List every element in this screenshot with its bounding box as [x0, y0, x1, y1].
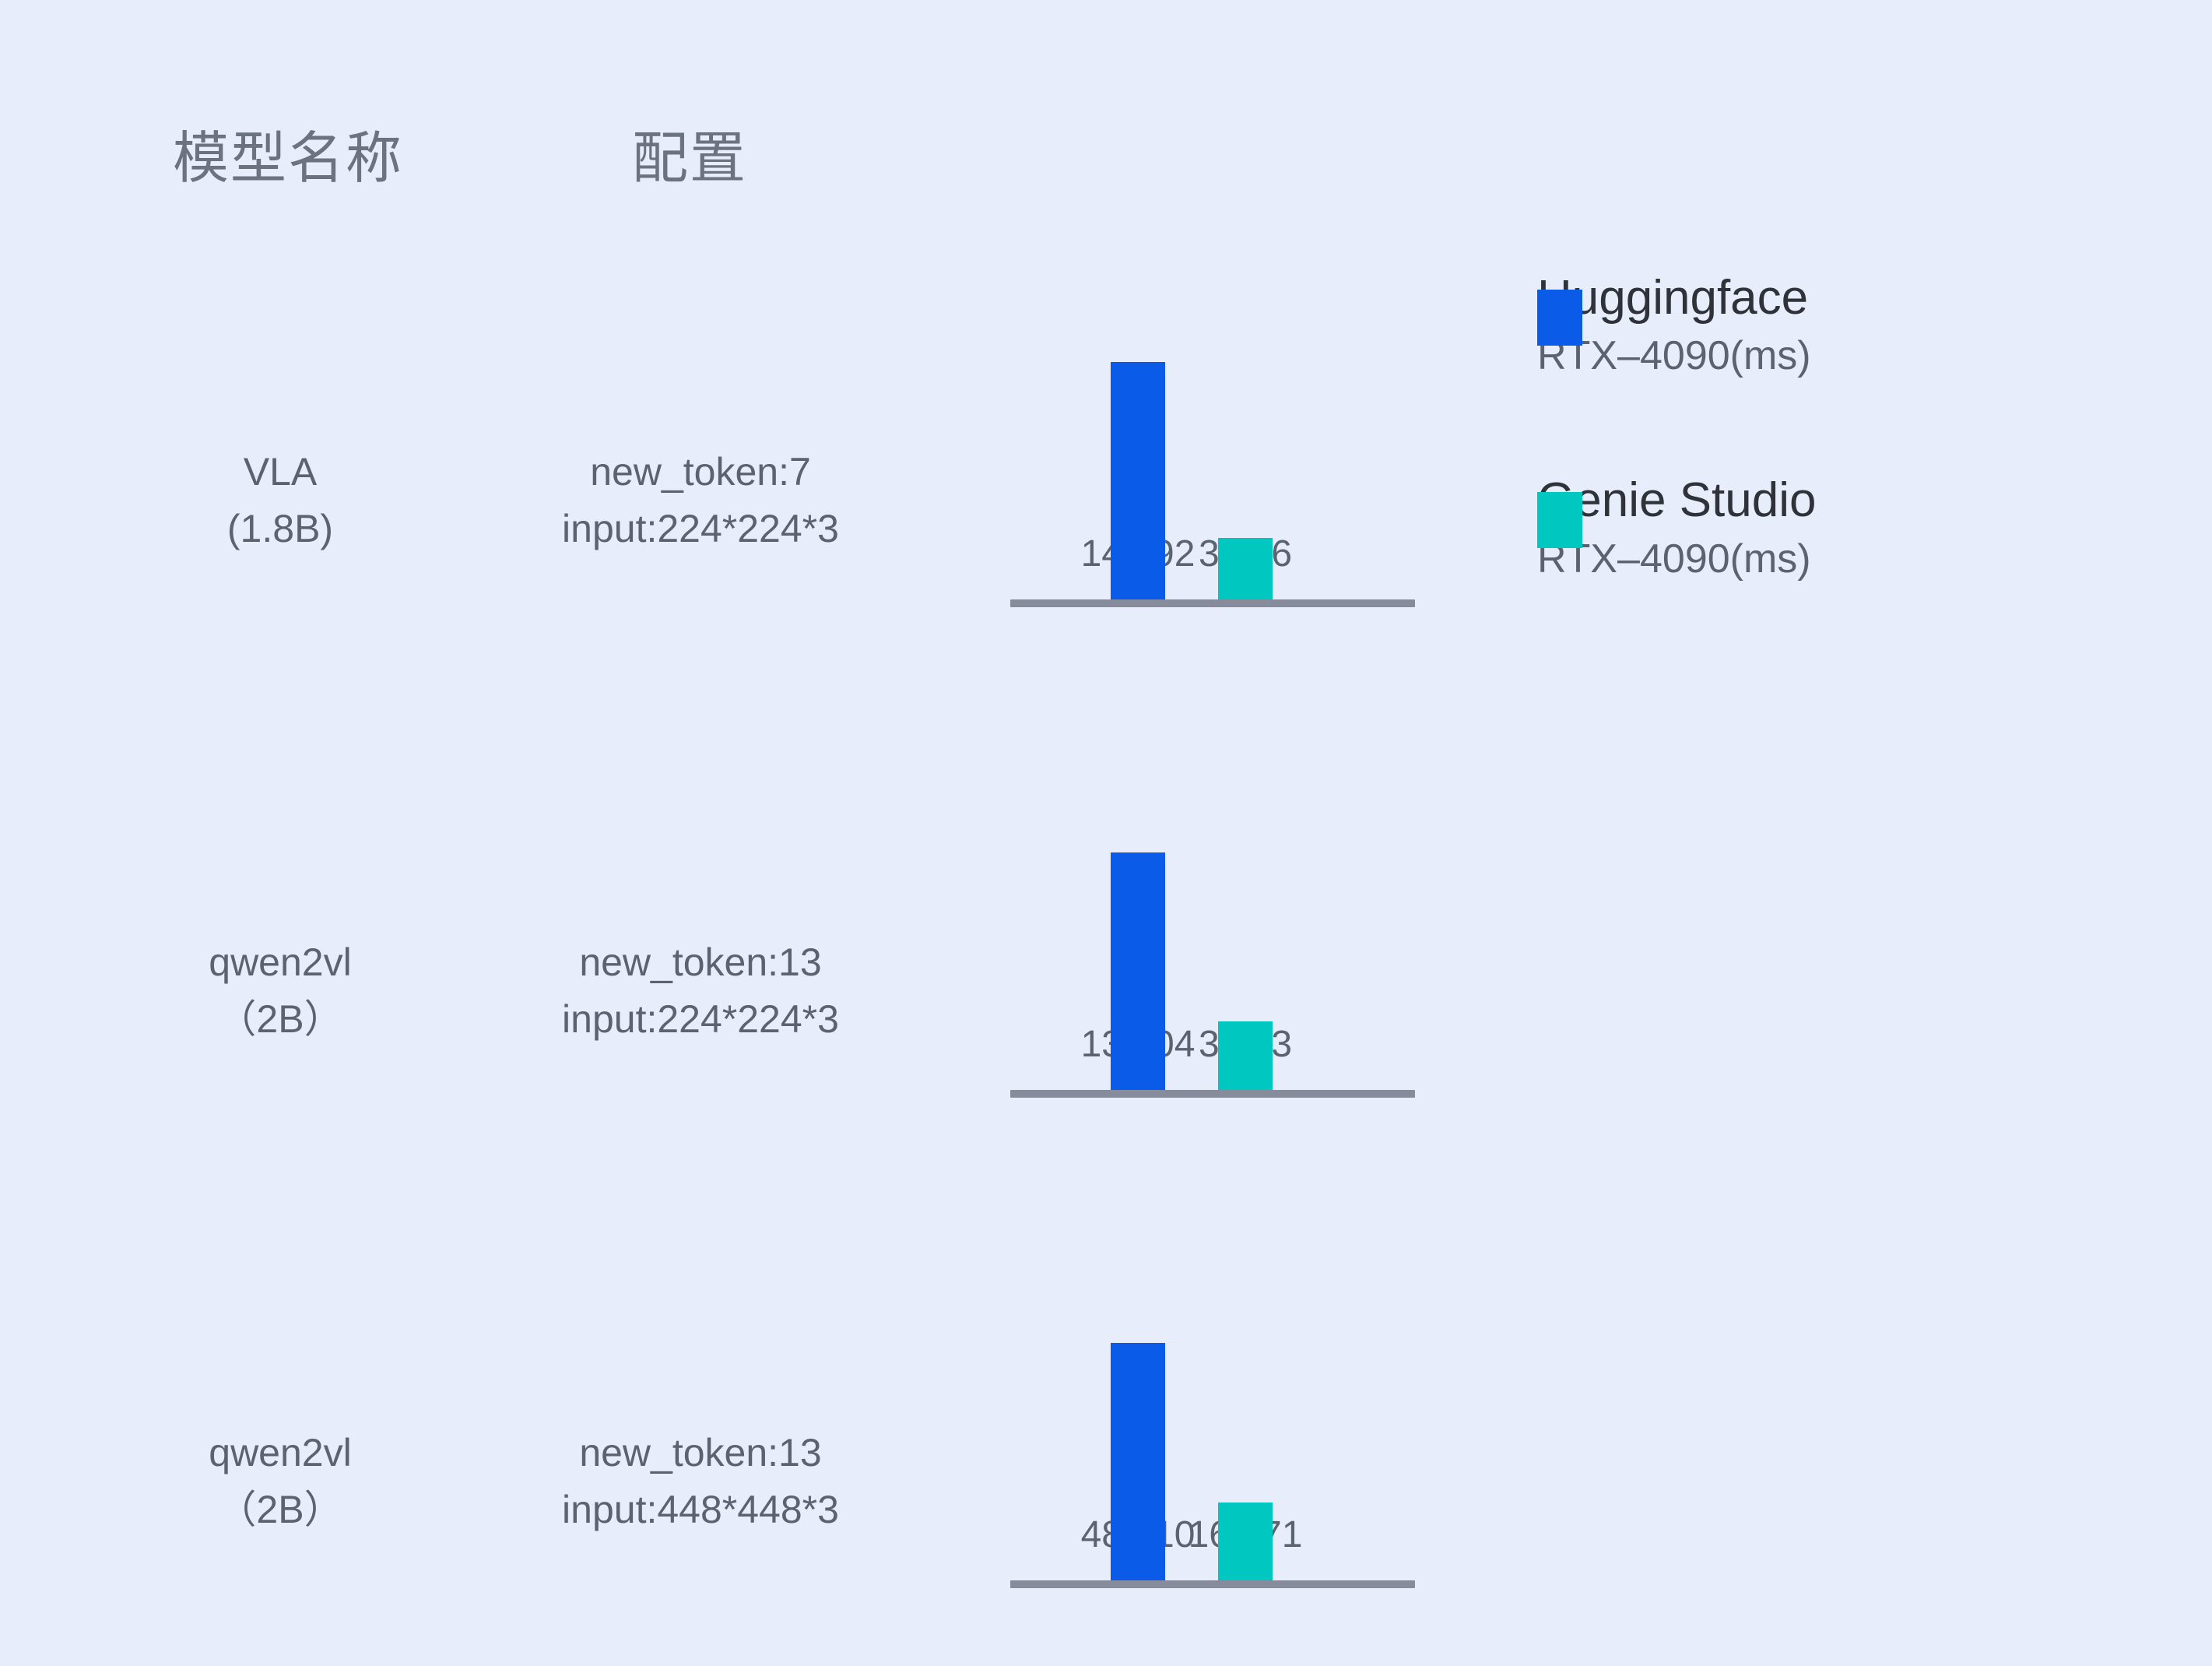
- legend-text-group: Huggingface RTX–4090(ms): [1537, 271, 2129, 381]
- legend-subtitle: RTX–4090(ms): [1537, 534, 2129, 585]
- axis-baseline: [1010, 599, 1415, 607]
- model-name-line-1: qwen2vl: [101, 1425, 459, 1481]
- model-name-cell: qwen2vl （2B）: [101, 1425, 459, 1538]
- bar-huggingface[interactable]: [1111, 1343, 1165, 1580]
- bar-plot: 141.92 36.56: [1010, 296, 1415, 607]
- chart-legend: Huggingface RTX–4090(ms) Genie Studio RT…: [1537, 257, 2129, 663]
- model-name-line-2: （2B）: [101, 991, 459, 1048]
- axis-baseline: [1010, 1580, 1415, 1588]
- config-line-2: input:224*224*3: [459, 501, 942, 557]
- config-line-1: new_token:13: [459, 934, 942, 991]
- legend-title: Huggingface: [1537, 271, 2129, 325]
- legend-title: Genie Studio: [1537, 473, 2129, 527]
- model-name-line-1: VLA: [101, 444, 459, 501]
- model-name-line-1: qwen2vl: [101, 934, 459, 991]
- square-swatch-icon: [1537, 290, 1582, 346]
- column-header-model-name: 模型名称: [173, 131, 403, 187]
- config-line-1: new_token:13: [459, 1425, 942, 1481]
- model-name-line-2: (1.8B): [101, 501, 459, 557]
- table-row: qwen2vl （2B） new_token:13 input:448*448*…: [0, 1277, 2212, 1666]
- bar-plot: 488.10 160.71: [1010, 1277, 1415, 1588]
- chart-canvas: 模型名称 配置 VLA (1.8B) new_token:7 input:224…: [0, 0, 2212, 1638]
- bar-plot: 131.04 37.93: [1010, 786, 1415, 1098]
- bar-genie-studio[interactable]: [1218, 1503, 1273, 1580]
- config-line-1: new_token:7: [459, 444, 942, 501]
- config-line-2: input:448*448*3: [459, 1481, 942, 1538]
- table-row: qwen2vl （2B） new_token:13 input:224*224*…: [0, 786, 2212, 1176]
- model-name-cell: VLA (1.8B): [101, 444, 459, 557]
- square-swatch-icon: [1537, 492, 1582, 548]
- axis-baseline: [1010, 1090, 1415, 1098]
- config-cell: new_token:7 input:224*224*3: [459, 444, 942, 557]
- column-header-config: 配置: [632, 131, 747, 187]
- config-cell: new_token:13 input:224*224*3: [459, 934, 942, 1047]
- bar-genie-studio[interactable]: [1218, 1021, 1273, 1090]
- model-name-line-2: （2B）: [101, 1481, 459, 1538]
- bar-genie-studio[interactable]: [1218, 538, 1273, 599]
- legend-subtitle: RTX–4090(ms): [1537, 331, 2129, 381]
- legend-item-huggingface[interactable]: Huggingface RTX–4090(ms): [1537, 257, 2129, 381]
- config-line-2: input:224*224*3: [459, 991, 942, 1048]
- bar-huggingface[interactable]: [1111, 852, 1165, 1090]
- model-name-cell: qwen2vl （2B）: [101, 934, 459, 1047]
- bar-huggingface[interactable]: [1111, 362, 1165, 599]
- config-cell: new_token:13 input:448*448*3: [459, 1425, 942, 1538]
- legend-text-group: Genie Studio RTX–4090(ms): [1537, 473, 2129, 584]
- legend-item-genie-studio[interactable]: Genie Studio RTX–4090(ms): [1537, 459, 2129, 584]
